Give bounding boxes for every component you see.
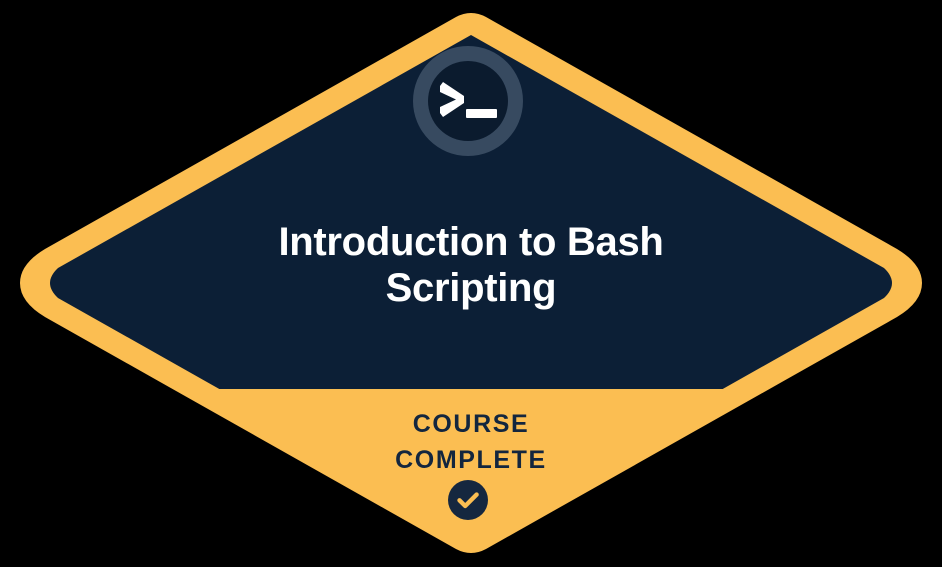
terminal-emblem bbox=[413, 46, 523, 156]
completion-check-badge bbox=[448, 480, 488, 520]
check-circle-icon bbox=[448, 480, 488, 520]
terminal-underscore-icon bbox=[466, 109, 497, 118]
badge-canvas: Introduction to Bash Scripting COURSE CO… bbox=[0, 0, 942, 567]
terminal-disc-icon bbox=[428, 61, 508, 141]
